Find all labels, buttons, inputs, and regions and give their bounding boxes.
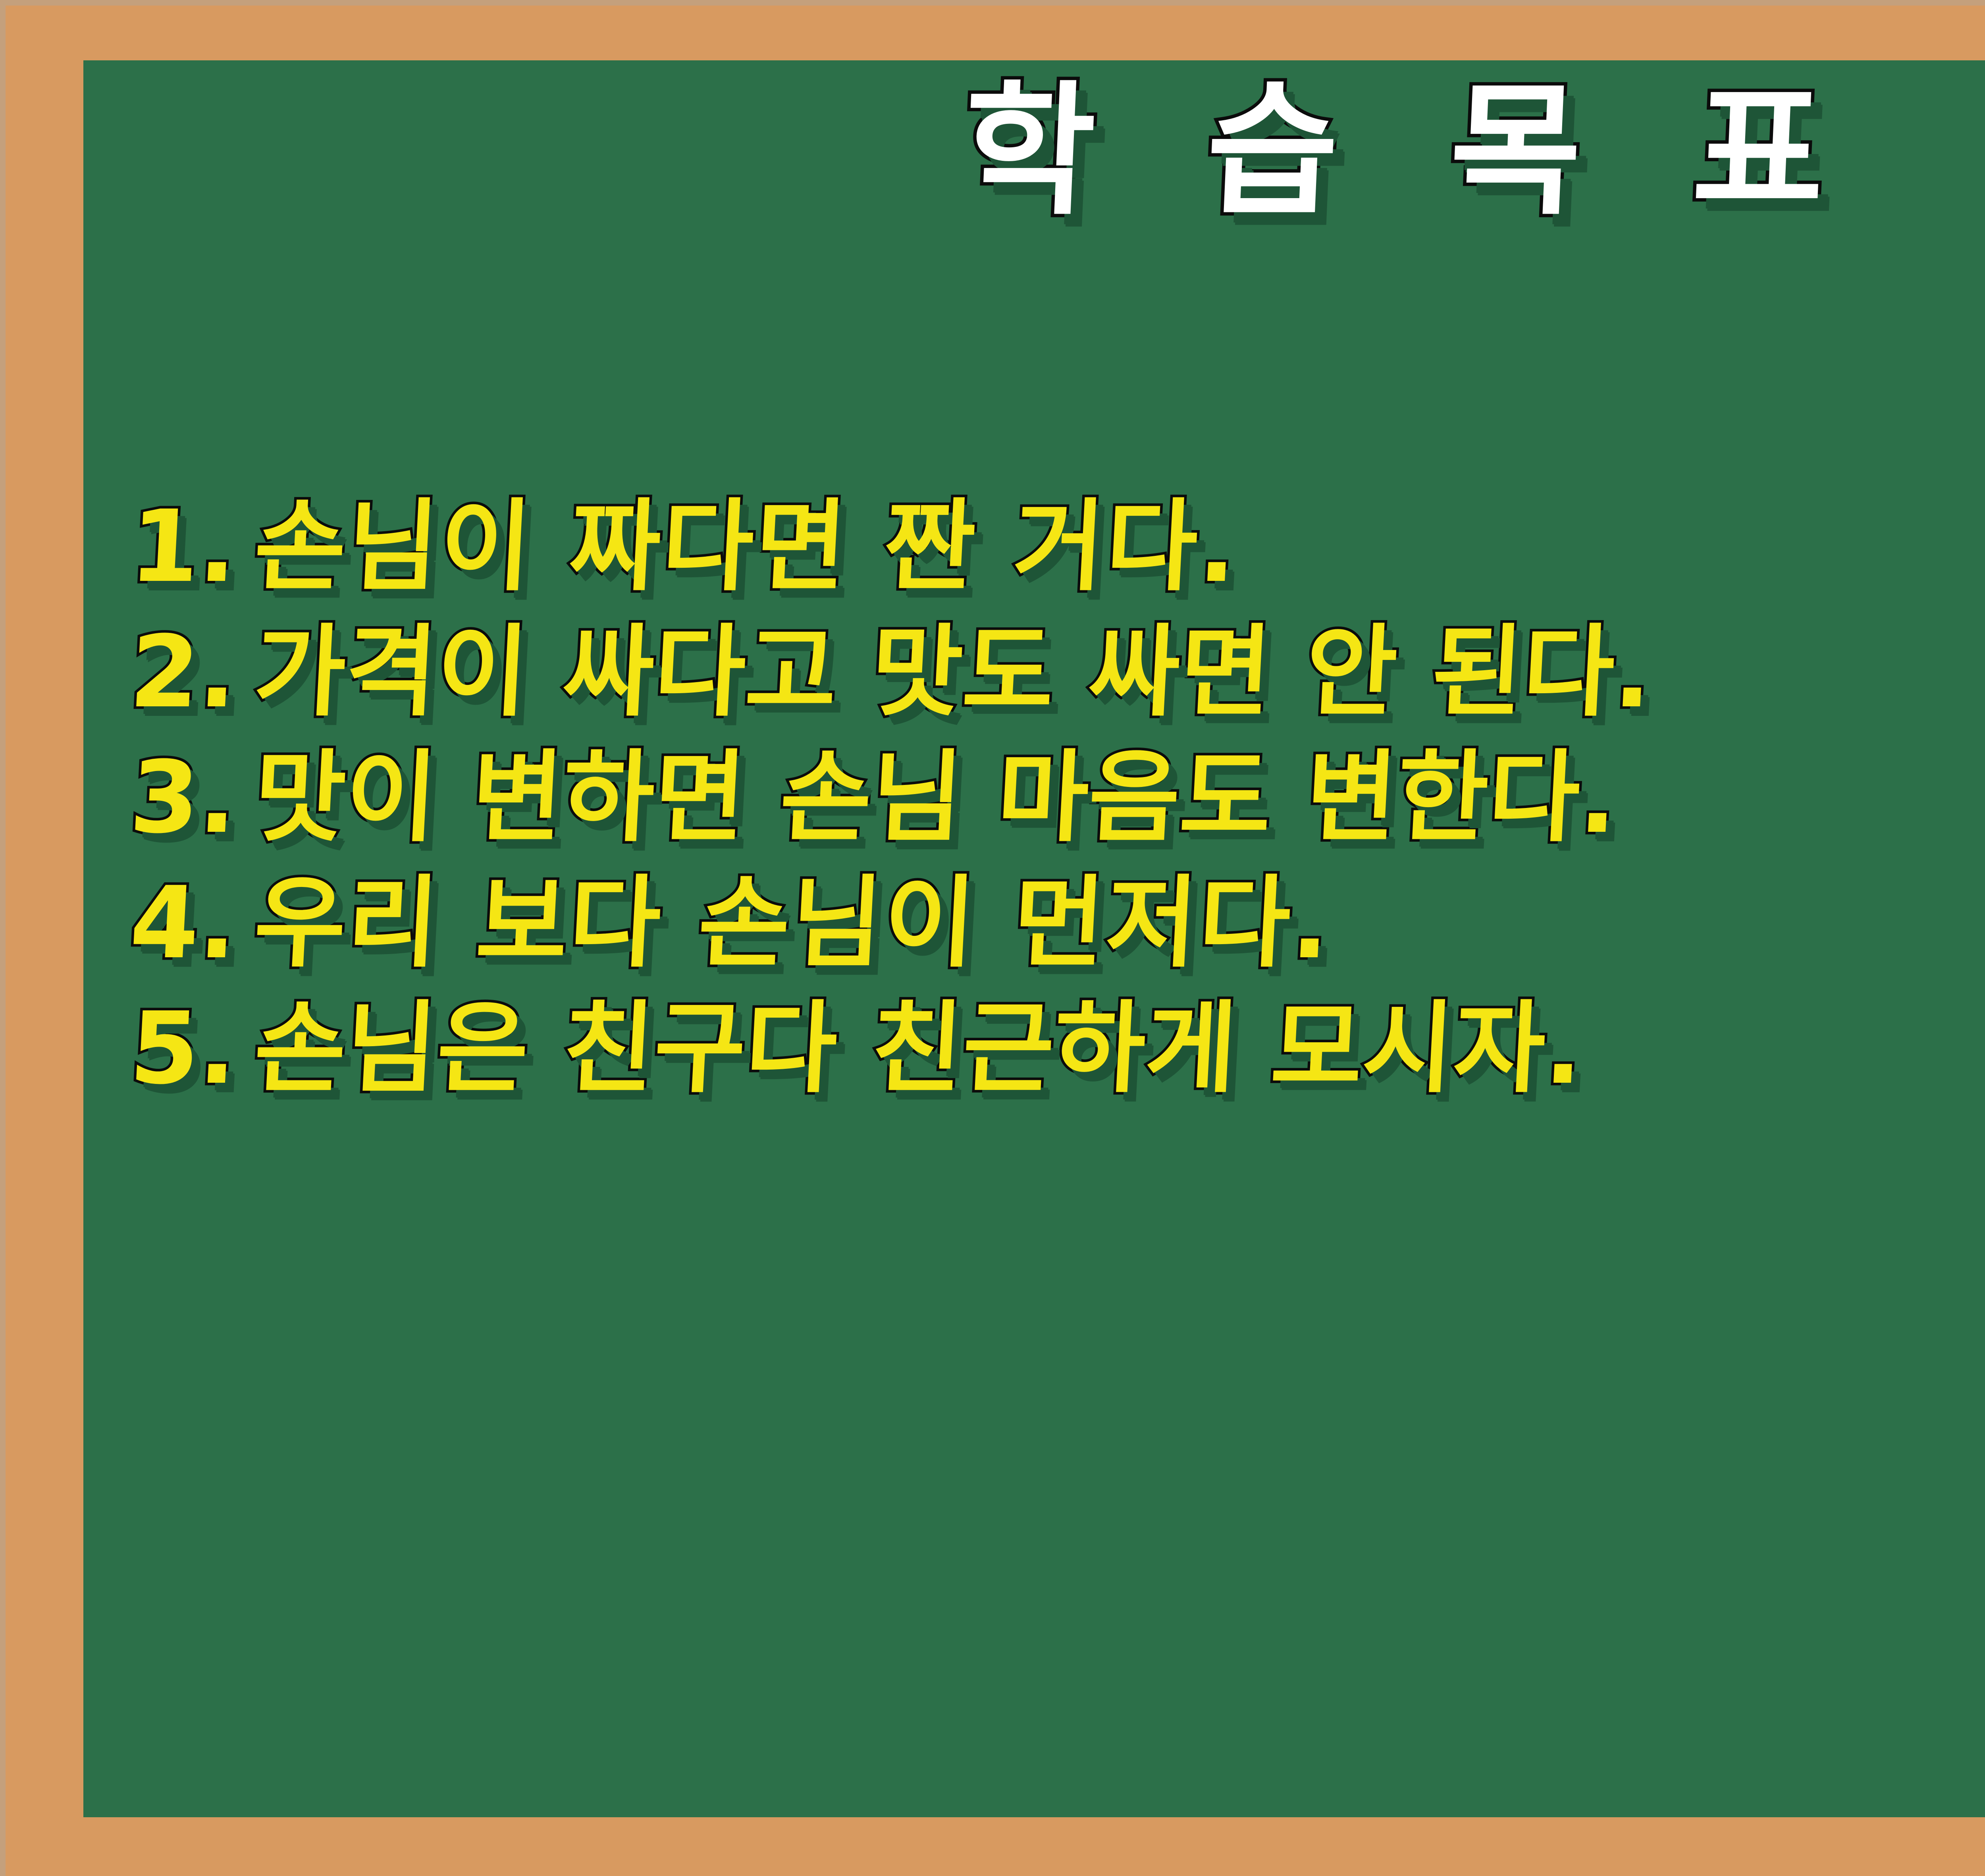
objectives-list: 1. 손님이 짜다면 짠 거다. 2. 가격이 싸다고 맛도 싸면 안 된다. … xyxy=(130,491,1985,1118)
chalkboard: 학 습 목 표 1. 손님이 짜다면 짠 거다. 2. 가격이 싸다고 맛도 싸… xyxy=(83,60,1985,1817)
list-item: 3. 맛이 변하면 손님 마음도 변한다. xyxy=(130,742,1985,853)
list-item-text: 맛이 변하면 손님 마음도 변한다. xyxy=(252,742,1621,853)
list-item-number: 2. xyxy=(127,617,240,728)
list-item: 1. 손님이 짜다면 짠 거다. xyxy=(130,491,1985,602)
list-item-text: 우리 보다 손님이 먼저다. xyxy=(252,868,1334,979)
title-area: 학 습 목 표 xyxy=(83,76,1985,226)
wooden-frame: 학 습 목 표 1. 손님이 짜다면 짠 거다. 2. 가격이 싸다고 맛도 싸… xyxy=(6,6,1985,1876)
list-item-number: 3. xyxy=(127,742,240,853)
list-item-text: 손님은 친구다 친근하게 모시자. xyxy=(252,993,1586,1104)
list-item-text: 손님이 짜다면 짠 거다. xyxy=(252,491,1241,602)
list-item-number: 5. xyxy=(127,993,240,1104)
list-item-number: 1. xyxy=(127,491,240,602)
list-item: 5. 손님은 친구다 친근하게 모시자. xyxy=(130,993,1985,1104)
poster-stage: 학 습 목 표 1. 손님이 짜다면 짠 거다. 2. 가격이 싸다고 맛도 싸… xyxy=(0,0,1985,1876)
list-item-text: 가격이 싸다고 맛도 싸면 안 된다. xyxy=(252,617,1655,728)
list-item: 2. 가격이 싸다고 맛도 싸면 안 된다. xyxy=(130,617,1985,728)
list-item-number: 4. xyxy=(127,868,240,979)
page-title: 학 습 목 표 xyxy=(960,76,1859,226)
list-item: 4. 우리 보다 손님이 먼저다. xyxy=(130,868,1985,979)
